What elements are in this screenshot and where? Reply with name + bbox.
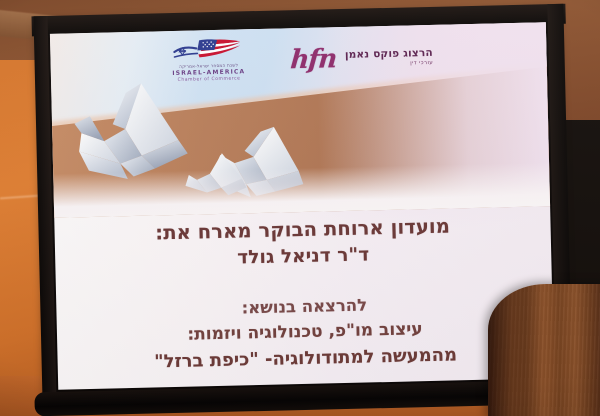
- photo-frame: לשכת המסחר ישראל-אמריקה ISRAEL-AMERICA C…: [0, 0, 600, 416]
- slide-subject-block: להרצאה בנושא: עיצוב מו"פ, טכנולוגיה ויזמ…: [56, 289, 554, 378]
- slide-text: מועדון ארוחת הבוקר מארח את: ד"ר דניאל גו…: [54, 210, 554, 378]
- podium-shadow-edge: [488, 284, 548, 416]
- israel-america-chamber-logo: לשכת המסחר ישראל-אמריקה ISRAEL-AMERICA C…: [156, 37, 261, 97]
- logo-strip: לשכת המסחר ישראל-אמריקה ISRAEL-AMERICA C…: [50, 28, 547, 104]
- hfn-hebrew-block: הרצוג פוקס נאמן עורכי דין: [345, 48, 433, 68]
- presentation-slide: לשכת המסחר ישראל-אמריקה ISRAEL-AMERICA C…: [50, 22, 554, 390]
- hfn-wordmark: hfn: [290, 46, 338, 73]
- usa-israel-flag-icon: [172, 37, 245, 65]
- wooden-podium: [488, 284, 600, 416]
- hfn-logo: hfn הרצוג פוקס נאמן עורכי דין: [290, 33, 441, 81]
